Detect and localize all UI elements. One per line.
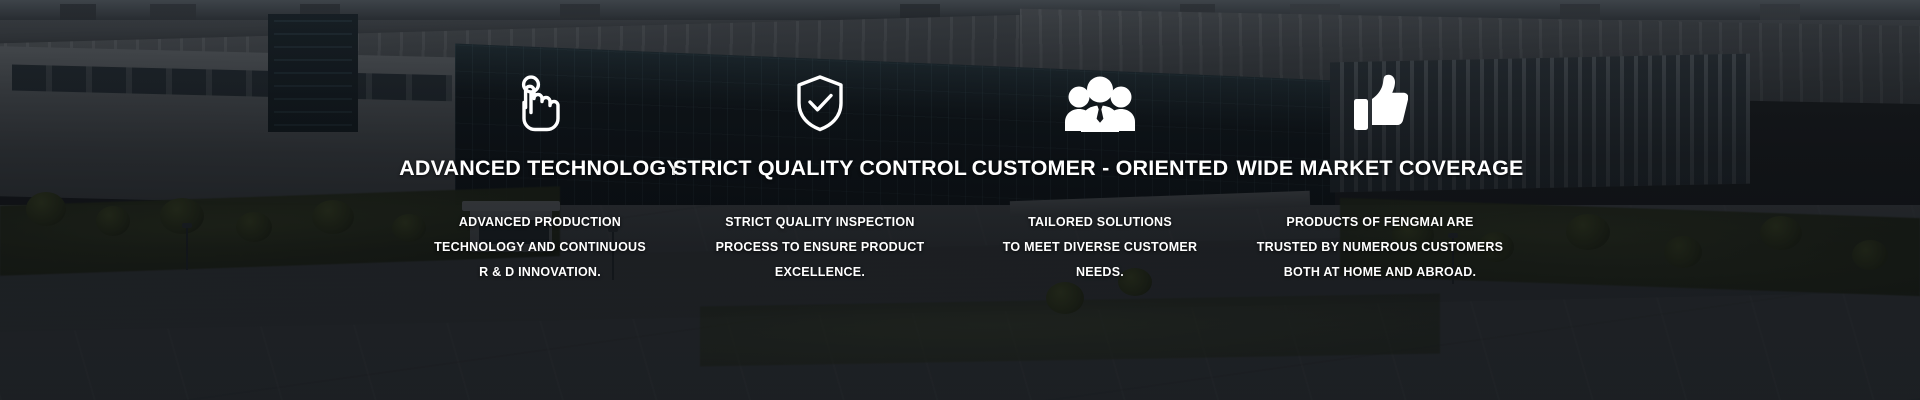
feature-description: TAILORED SOLUTIONS TO MEET DIVERSE CUSTO… (1003, 210, 1197, 285)
feature-title: CUSTOMER - ORIENTED (972, 156, 1229, 182)
feature-desc-line: R & D INNOVATION. (434, 260, 646, 285)
feature-desc-line: BOTH AT HOME AND ABROAD. (1257, 260, 1503, 285)
feature-desc-line: STRICT QUALITY INSPECTION (716, 210, 925, 235)
feature-desc-line: TRUSTED BY NUMEROUS CUSTOMERS (1257, 235, 1503, 260)
feature-description: STRICT QUALITY INSPECTION PROCESS TO ENS… (716, 210, 925, 285)
feature-item-customer-oriented: CUSTOMER - ORIENTED TAILORED SOLUTIONS T… (960, 76, 1240, 285)
shield-check-icon (795, 76, 845, 132)
feature-item-wide-market-coverage: WIDE MARKET COVERAGE PRODUCTS OF FENGMAI… (1240, 76, 1520, 285)
features-banner: ADVANCED TECHNOLOGY ADVANCED PRODUCTION … (0, 0, 1920, 400)
feature-title: ADVANCED TECHNOLOGY (399, 156, 681, 182)
feature-desc-line: EXCELLENCE. (716, 260, 925, 285)
feature-list: ADVANCED TECHNOLOGY ADVANCED PRODUCTION … (0, 0, 1920, 400)
feature-description: PRODUCTS OF FENGMAI ARE TRUSTED BY NUMER… (1257, 210, 1503, 285)
feature-desc-line: TECHNOLOGY AND CONTINUOUS (434, 235, 646, 260)
feature-title: WIDE MARKET COVERAGE (1236, 156, 1523, 182)
feature-desc-line: PRODUCTS OF FENGMAI ARE (1257, 210, 1503, 235)
feature-desc-line: TO MEET DIVERSE CUSTOMER (1003, 235, 1197, 260)
feature-item-advanced-technology: ADVANCED TECHNOLOGY ADVANCED PRODUCTION … (400, 76, 680, 285)
feature-desc-line: PROCESS TO ENSURE PRODUCT (716, 235, 925, 260)
thumbs-up-icon (1352, 76, 1408, 132)
hand-pointer-icon (512, 76, 568, 132)
feature-desc-line: TAILORED SOLUTIONS (1003, 210, 1197, 235)
feature-title: STRICT QUALITY CONTROL (673, 156, 967, 182)
feature-description: ADVANCED PRODUCTION TECHNOLOGY AND CONTI… (434, 210, 646, 285)
feature-desc-line: ADVANCED PRODUCTION (434, 210, 646, 235)
users-group-icon (1063, 76, 1137, 132)
feature-item-strict-quality-control: STRICT QUALITY CONTROL STRICT QUALITY IN… (680, 76, 960, 285)
feature-desc-line: NEEDS. (1003, 260, 1197, 285)
